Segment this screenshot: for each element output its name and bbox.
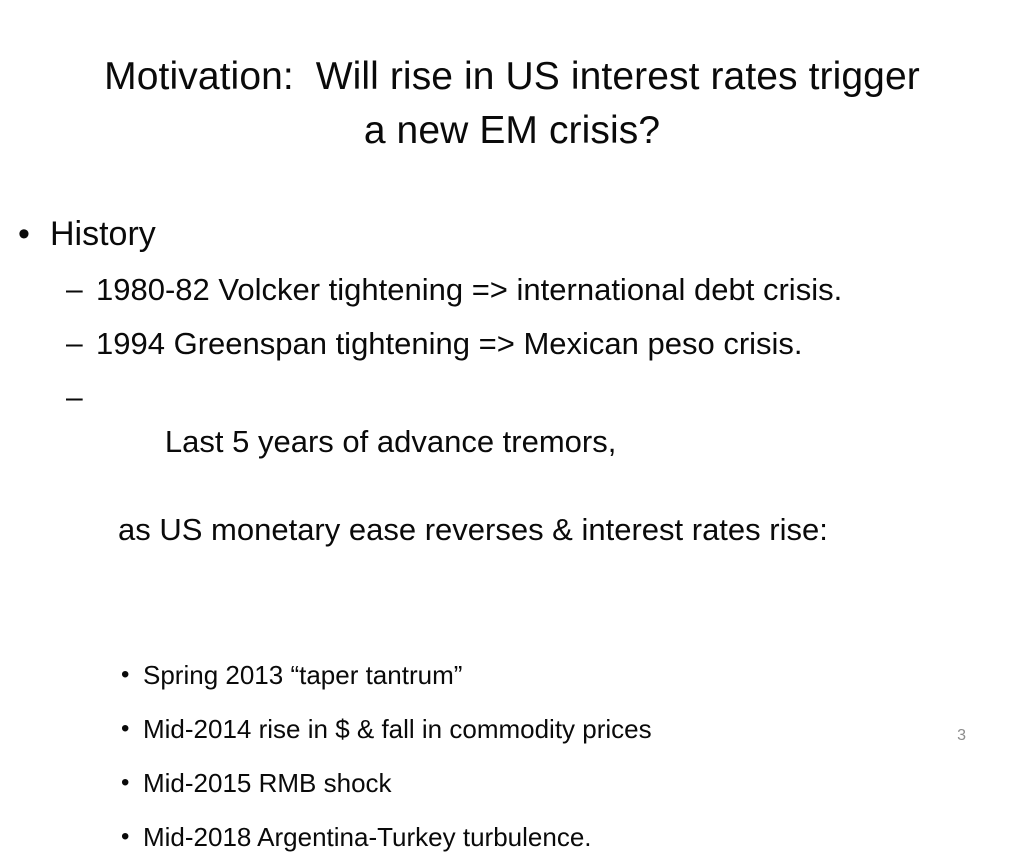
title-line-2: a new EM crisis? bbox=[40, 104, 984, 158]
dash-icon: – bbox=[66, 268, 96, 312]
bullet-level2-label: 1994 Greenspan tightening => Mexican pes… bbox=[96, 322, 803, 366]
bullet-level2-label: Last 5 years of advance tremors, bbox=[165, 424, 616, 459]
page-number: 3 bbox=[957, 726, 966, 746]
bullet-level3-taper-tantrum: • Spring 2013 “taper tantrum” bbox=[0, 650, 1024, 700]
bullet-level2-label-wrapper: Last 5 years of advance tremors, as US m… bbox=[96, 376, 828, 640]
dash-icon: – bbox=[66, 376, 96, 420]
bullet-level3-label: Mid-2014 rise in $ & fall in commodity p… bbox=[143, 704, 652, 754]
bullet-level3-label: Mid-2015 RMB shock bbox=[143, 758, 392, 808]
bullet-dot-icon: • bbox=[18, 212, 50, 256]
slide-canvas: Motivation: Will rise in US interest rat… bbox=[0, 0, 1024, 768]
bullet-level2-continuation: as US monetary ease reverses & interest … bbox=[96, 508, 828, 552]
bullet-level3-label: Mid-2018 Argentina-Turkey turbulence. bbox=[143, 812, 592, 862]
bullet-dot-icon: • bbox=[121, 758, 143, 808]
bullet-level2-volcker: – 1980-82 Volcker tightening => internat… bbox=[0, 268, 1024, 312]
bullet-dot-icon: • bbox=[121, 812, 143, 862]
dash-icon: – bbox=[66, 322, 96, 366]
bullet-level2-greenspan: – 1994 Greenspan tightening => Mexican p… bbox=[0, 322, 1024, 366]
bullet-level3-group: • Spring 2013 “taper tantrum” • Mid-2014… bbox=[0, 650, 1024, 862]
slide-title: Motivation: Will rise in US interest rat… bbox=[40, 50, 984, 158]
bullet-dot-icon: • bbox=[121, 650, 143, 700]
bullet-level1-history: • History bbox=[0, 212, 1024, 256]
bullet-level3-rmb-shock: • Mid-2015 RMB shock bbox=[0, 758, 1024, 808]
bullet-dot-icon: • bbox=[121, 704, 143, 754]
bullet-level1-label: History bbox=[50, 212, 156, 256]
bullet-level2-label: 1980-82 Volcker tightening => internatio… bbox=[96, 268, 842, 312]
bullet-level2-tremors: – Last 5 years of advance tremors, as US… bbox=[0, 376, 1024, 640]
bullet-level3-label: Spring 2013 “taper tantrum” bbox=[143, 650, 462, 700]
bullet-level3-argentina-turkey: • Mid-2018 Argentina-Turkey turbulence. bbox=[0, 812, 1024, 862]
title-line-1: Motivation: Will rise in US interest rat… bbox=[40, 50, 984, 104]
bullet-level3-dollar-rise: • Mid-2014 rise in $ & fall in commodity… bbox=[0, 704, 1024, 754]
